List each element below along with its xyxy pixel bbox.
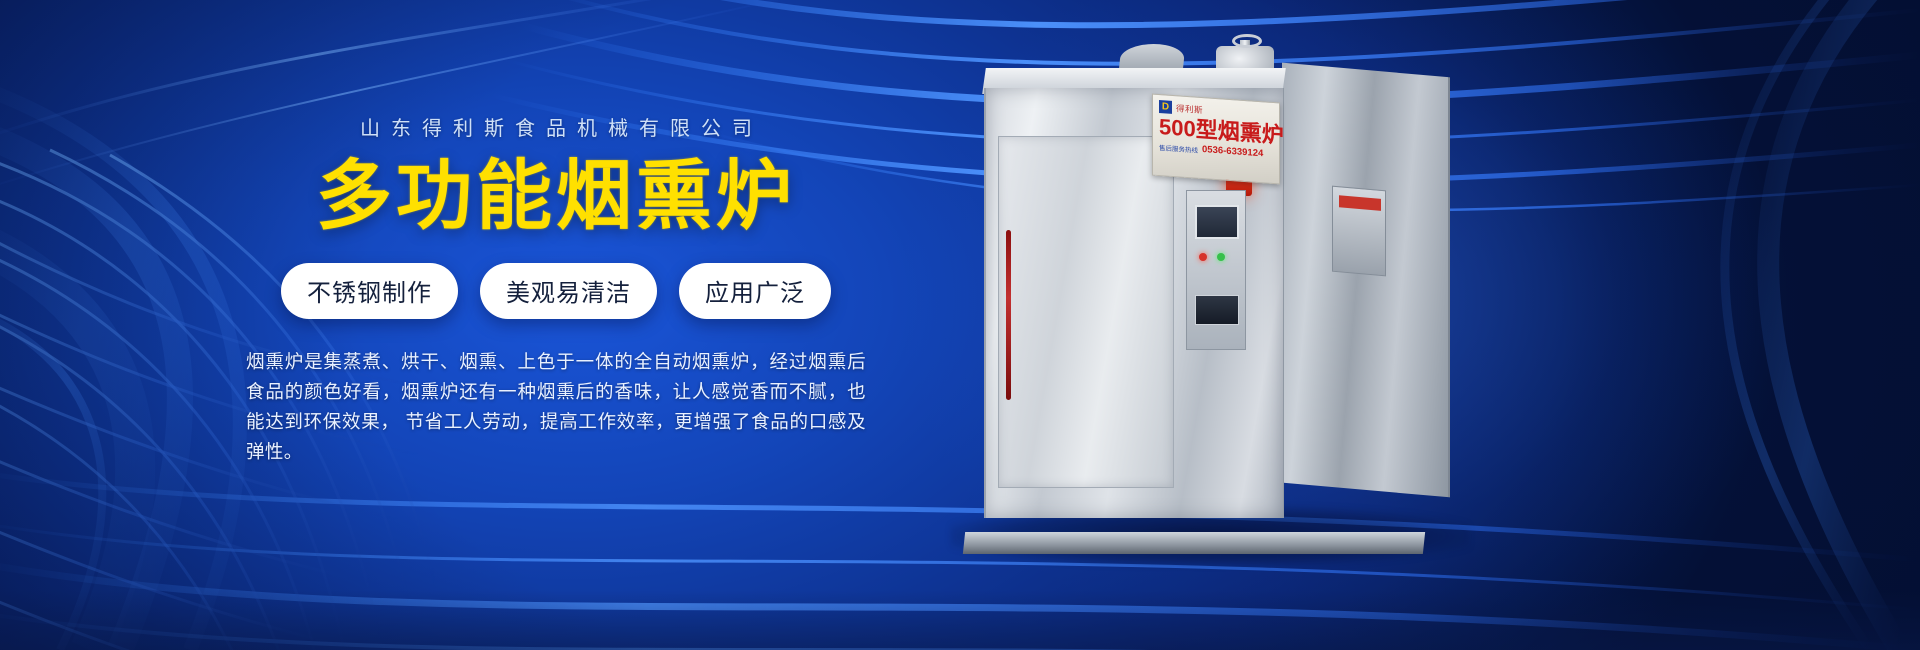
- machine-side-control-box: [1332, 186, 1386, 277]
- machine-door: [998, 136, 1174, 488]
- machine-control-panel: [1186, 190, 1246, 350]
- feature-pill-easy-clean[interactable]: 美观易清洁: [480, 263, 657, 319]
- feature-pill-list: 不锈钢制作 美观易清洁 应用广泛: [246, 263, 866, 319]
- nameplate-phone-number: 0536-6339124: [1202, 144, 1263, 159]
- machine-indicator-green: [1217, 253, 1225, 261]
- banner-content: 山东得利斯食品机械有限公司 多功能烟熏炉 不锈钢制作 美观易清洁 应用广泛 烟熏…: [246, 112, 866, 467]
- machine-indicator-red: [1199, 253, 1207, 261]
- machine-control-knobs: [1195, 295, 1239, 325]
- banner-description: 烟熏炉是集蒸煮、烘干、烟熏、上色于一体的全自动烟熏炉，经过烟熏后食品的颜色好看，…: [246, 347, 866, 467]
- brand-logo-mark: D: [1159, 100, 1172, 114]
- machine-base-platform: [963, 532, 1425, 554]
- feature-pill-wide-use[interactable]: 应用广泛: [679, 263, 831, 319]
- machine-nameplate: D 得利斯 500型烟熏炉 售后服务热线 0536-6339124: [1152, 94, 1280, 185]
- machine-valve-wheel: [1232, 34, 1262, 48]
- product-banner: 山东得利斯食品机械有限公司 多功能烟熏炉 不锈钢制作 美观易清洁 应用广泛 烟熏…: [0, 0, 1920, 650]
- product-photo-smokehouse-oven: D 得利斯 500型烟熏炉 售后服务热线 0536-6339124: [940, 40, 1500, 560]
- floor-shading: [0, 590, 1920, 650]
- machine-side-box-red-strip: [1339, 195, 1381, 211]
- machine-side-panel: [1282, 63, 1450, 498]
- machine-door-handle: [1006, 230, 1011, 400]
- nameplate-phone-label: 售后服务热线: [1159, 142, 1198, 155]
- feature-pill-stainless[interactable]: 不锈钢制作: [281, 263, 458, 319]
- machine-control-screen: [1195, 205, 1239, 239]
- brand-name-text: 得利斯: [1176, 102, 1203, 116]
- banner-headline: 多功能烟熏炉: [246, 159, 866, 235]
- company-name: 山东得利斯食品机械有限公司: [246, 112, 866, 141]
